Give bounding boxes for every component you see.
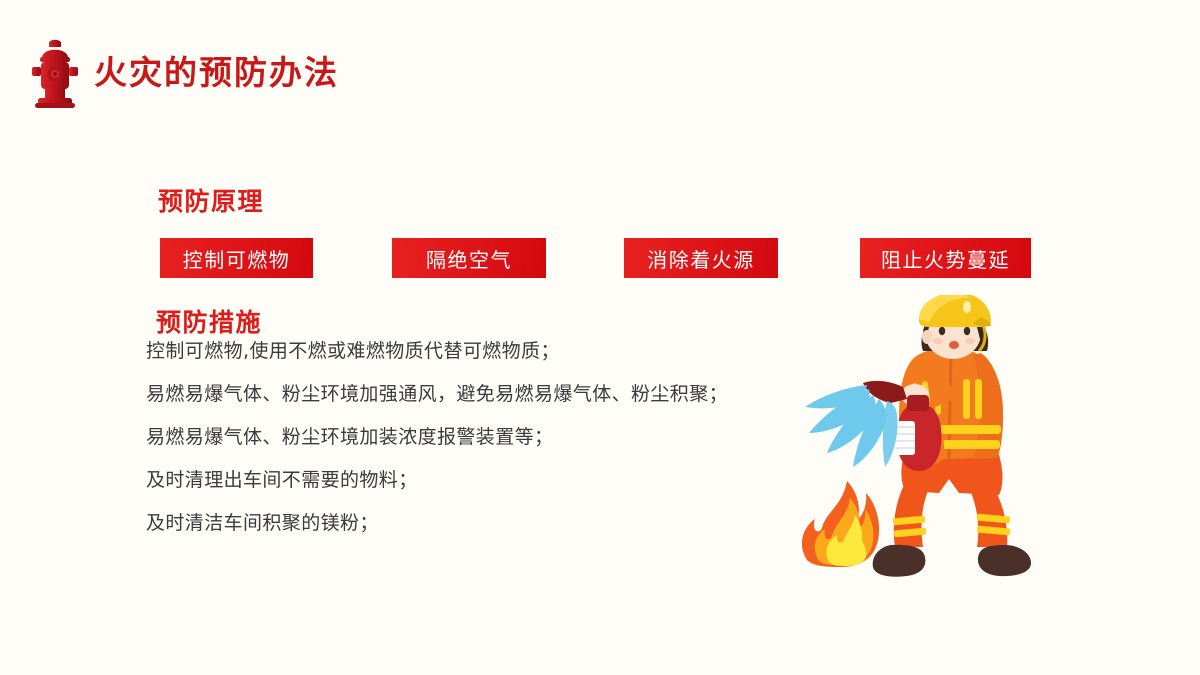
principle-chip-remove-ignition-source[interactable]: 消除着火源 <box>624 238 778 278</box>
firefighter-with-extinguisher-illustration <box>795 295 1065 590</box>
measure-line: 易燃易爆气体、粉尘环境加强通风，避免易燃易爆气体、粉尘积聚； <box>146 385 846 404</box>
principle-chip-stop-fire-spread[interactable]: 阻止火势蔓延 <box>860 238 1031 278</box>
principle-chip-isolate-air[interactable]: 隔绝空气 <box>392 238 546 278</box>
principle-chip-control-combustibles[interactable]: 控制可燃物 <box>160 238 313 278</box>
flame-icon <box>802 481 879 567</box>
measures-list: 控制可燃物,使用不燃或难燃物质代替可燃物质； 易燃易爆气体、粉尘环境加强通风，避… <box>146 342 846 557</box>
boot <box>978 545 1031 576</box>
slide-canvas: 火灾的预防办法 预防原理 控制可燃物 隔绝空气 消除着火源 阻止火势蔓延 预防措… <box>0 0 1200 675</box>
section-heading-measures: 预防措施 <box>156 303 262 339</box>
section-heading-principle: 预防原理 <box>158 182 264 218</box>
measure-line: 易燃易爆气体、粉尘环境加装浓度报警装置等； <box>146 428 846 447</box>
slide-header: 火灾的预防办法 <box>28 36 339 108</box>
boot <box>873 545 926 577</box>
firefighter-head <box>919 295 991 359</box>
fire-hydrant-icon <box>28 34 82 110</box>
page-title: 火灾的预防办法 <box>94 56 339 89</box>
measure-line: 及时清理出车间不需要的物料； <box>146 471 846 490</box>
measure-line: 及时清洁车间积聚的镁粉； <box>146 514 846 533</box>
measure-line: 控制可燃物,使用不燃或难燃物质代替可燃物质； <box>146 342 846 361</box>
